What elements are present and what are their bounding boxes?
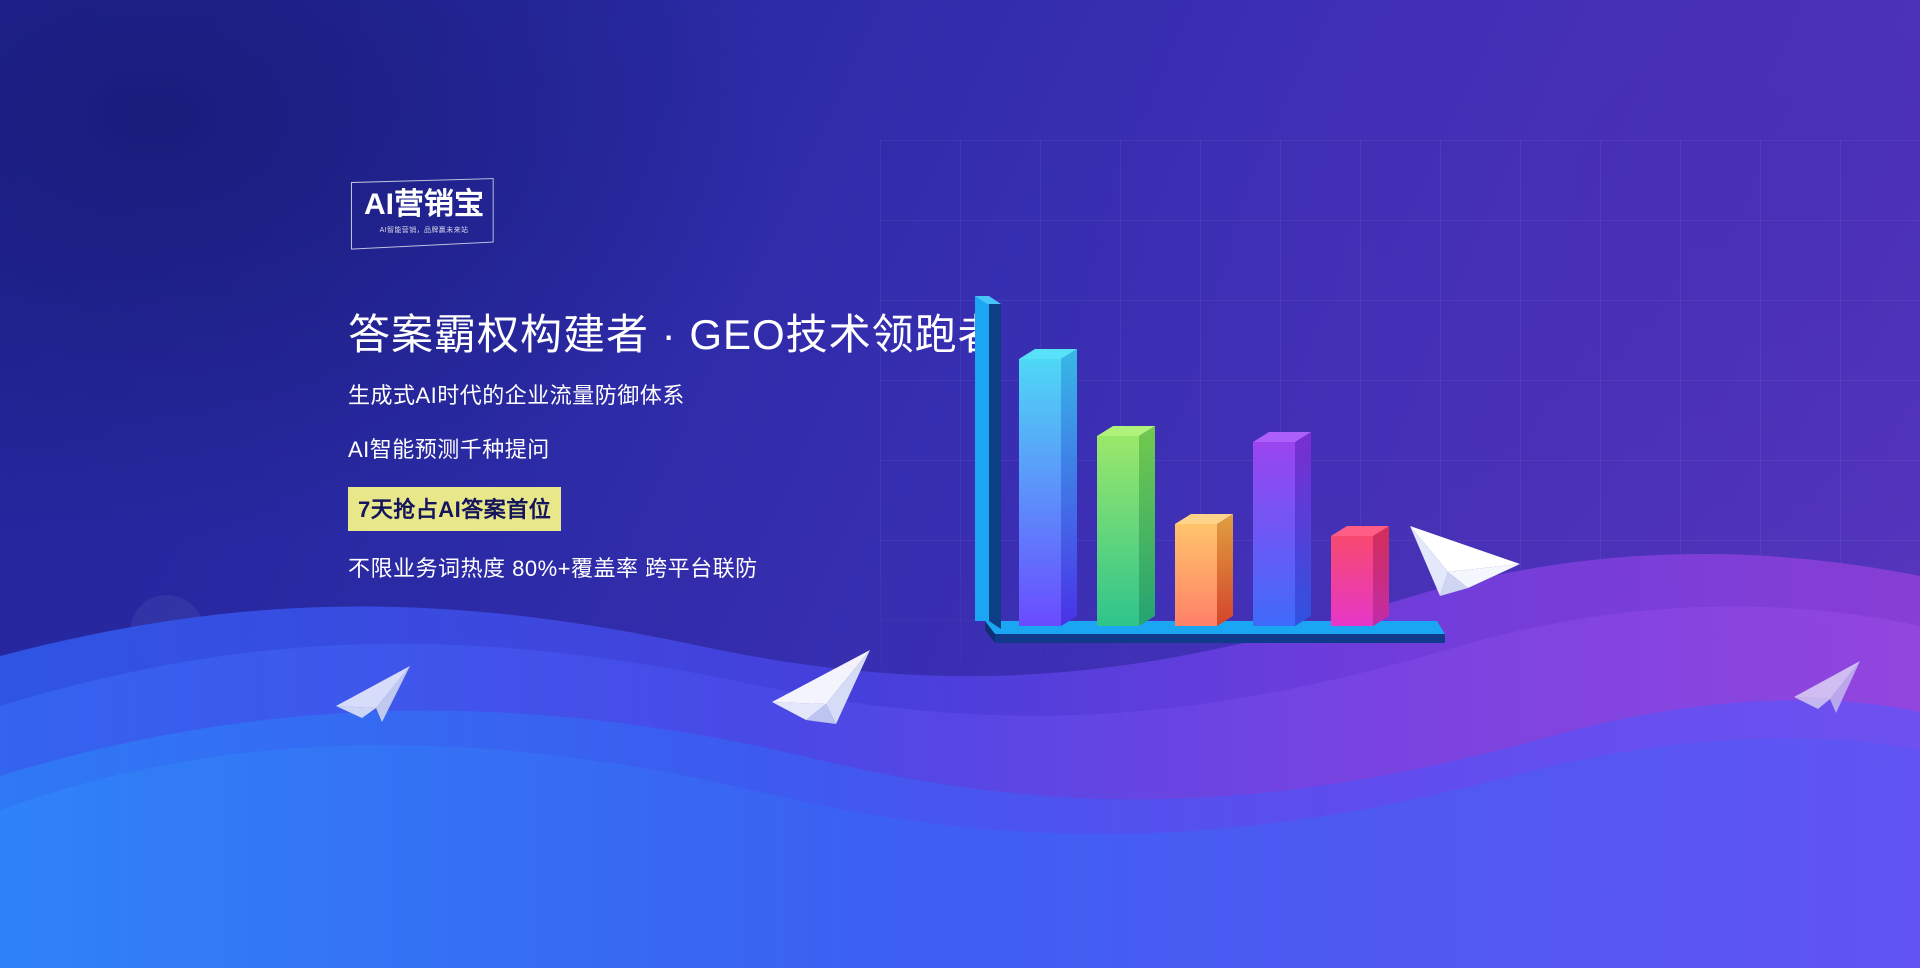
bar-chart-illustration (975, 296, 1445, 666)
brand-logo[interactable]: AI营销宝 AI智能营销，品牌赢未来站 (352, 180, 496, 246)
paper-plane-icon (332, 660, 414, 737)
paper-plane-icon (1790, 655, 1864, 726)
hero-subtitle-1: 生成式AI时代的企业流量防御体系 (348, 382, 1068, 411)
status-badge: 7天抢占AI答案首位 (348, 487, 561, 531)
paper-plane-icon (766, 642, 876, 743)
hero-copy: 答案霸权构建者 · GEO技术领跑者 生成式AI时代的企业流量防御体系 AI智能… (348, 310, 1068, 583)
hero-banner: AI营销宝 AI智能营销，品牌赢未来站 答案霸权构建者 · GEO技术领跑者 生… (0, 0, 1920, 968)
wave-decoration (0, 538, 1920, 968)
paper-plane-icon (1404, 512, 1524, 621)
logo-wordmark: AI营销宝 (364, 190, 484, 220)
highlight-row: 7天抢占AI答案首位 (348, 487, 1068, 531)
hero-subtitle-2: AI智能预测千种提问 (348, 436, 1068, 465)
logo-tagline: AI智能营销，品牌赢未来站 (380, 225, 469, 235)
page-title: 答案霸权构建者 · GEO技术领跑者 (348, 310, 1068, 360)
hero-features-line: 不限业务词热度 80%+覆盖率 跨平台联防 (348, 555, 1068, 584)
